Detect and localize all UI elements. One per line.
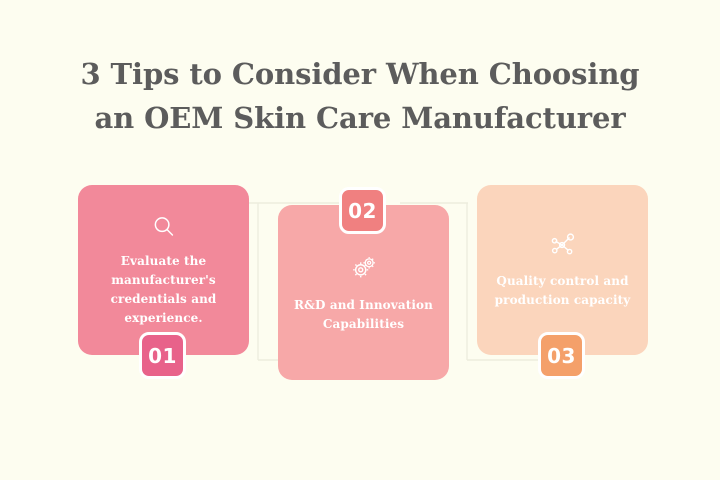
tip-card-1-text: Evaluate the manufacturer's credentials … — [94, 252, 234, 328]
tip-card-3-text: Quality control and production capacity — [493, 272, 633, 310]
tip-card-1-number-badge[interactable]: 01 — [139, 332, 186, 379]
infographic-canvas: 3 Tips to Consider When Choosing an OEM … — [0, 0, 720, 480]
gears-icon — [349, 252, 379, 282]
tip-card-3-number-badge[interactable]: 03 — [538, 332, 585, 379]
tip-card-3[interactable]: Quality control and production capacity — [477, 185, 648, 355]
tip-card-1[interactable]: Evaluate the manufacturer's credentials … — [78, 185, 249, 355]
magnifying-glass-icon — [149, 212, 179, 242]
network-nodes-icon — [548, 230, 578, 260]
title-line-2: an OEM Skin Care Manufacturer — [0, 96, 720, 140]
tip-card-2-number-badge[interactable]: 02 — [339, 187, 386, 234]
tip-card-2-text: R&D and Innovation Capabilities — [294, 296, 434, 334]
title-line-1: 3 Tips to Consider When Choosing — [0, 52, 720, 96]
page-title: 3 Tips to Consider When Choosing an OEM … — [0, 52, 720, 140]
